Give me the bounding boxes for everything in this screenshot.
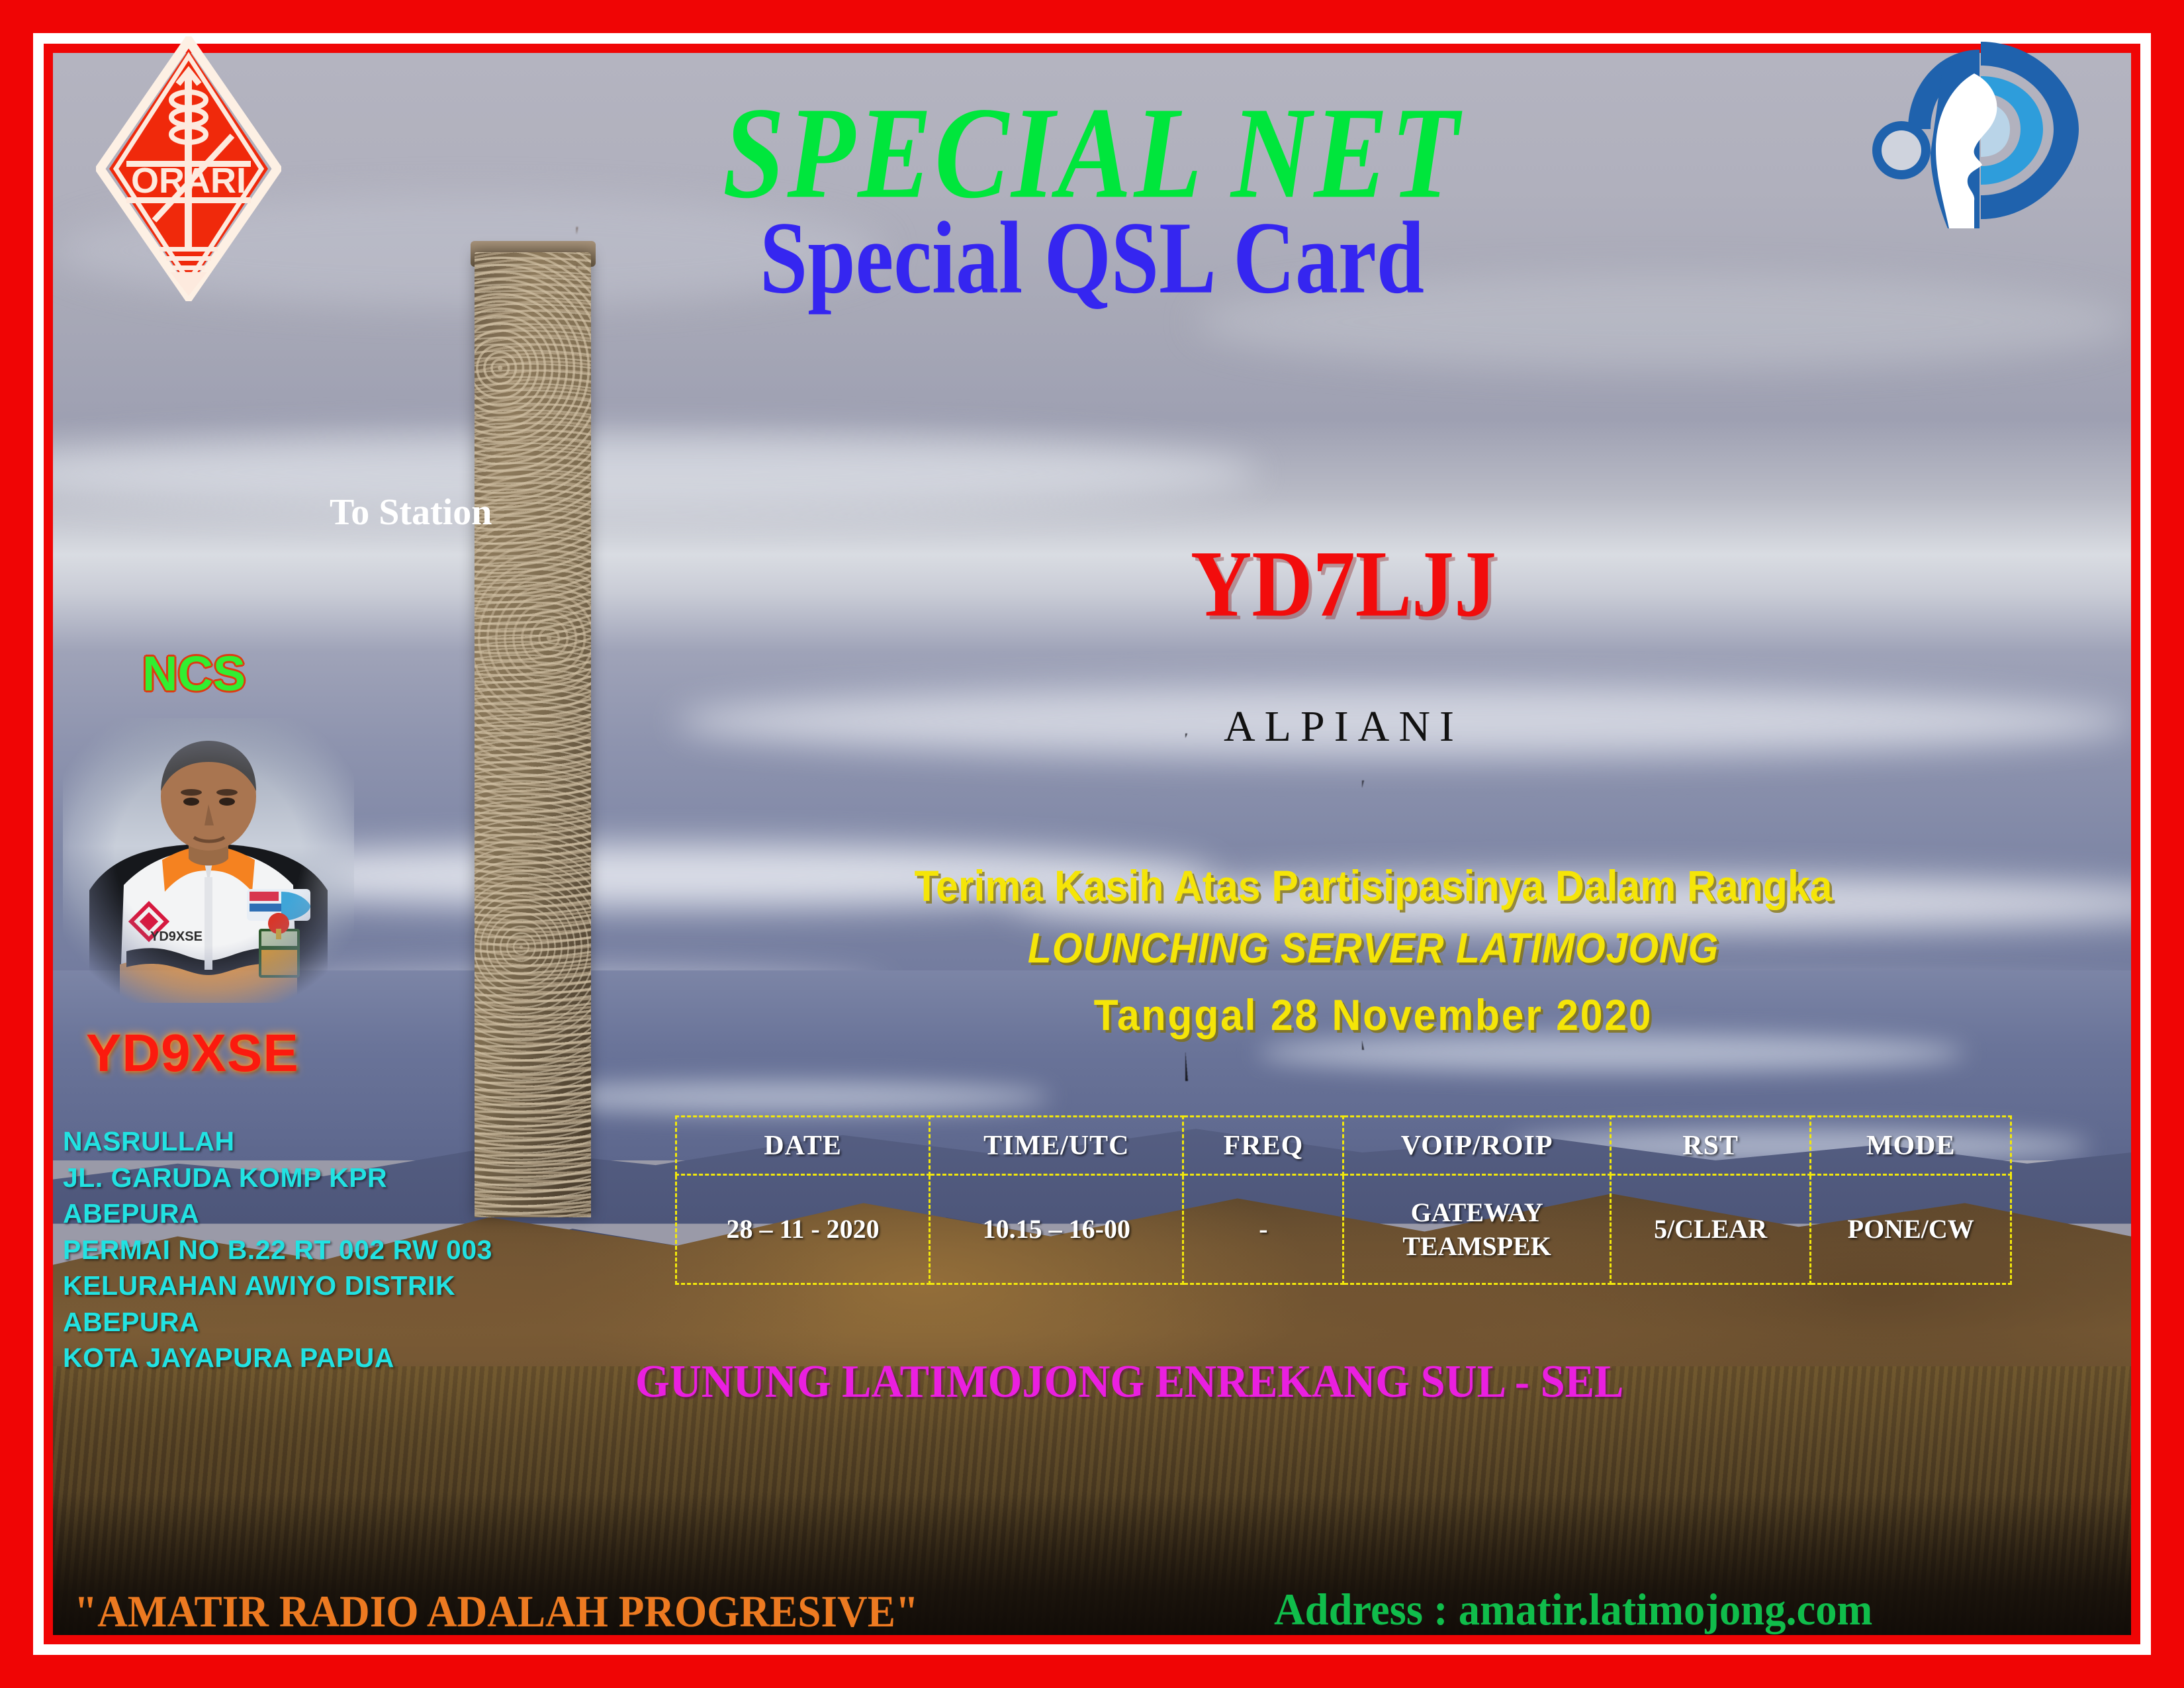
address-line: PERMAI NO B.22 RT 002 RW 003 — [63, 1232, 492, 1268]
event-date-line: Tanggal 28 November 2020 — [749, 990, 1997, 1040]
cell-mode: PONE/CW — [1811, 1175, 2011, 1284]
cell-rst: 5/CLEAR — [1610, 1175, 1811, 1284]
address-line: KELURAHAN AWIYO DISTRIK — [63, 1268, 492, 1304]
worked-station-callsign: YD7LJJ — [979, 530, 1707, 639]
club-motto: "AMATIR RADIO ADALAH PROGRESIVE" — [74, 1585, 919, 1638]
svg-text:YD9XSE: YD9XSE — [150, 929, 203, 944]
ncs-label: NCS — [142, 645, 246, 702]
column-header-date: DATE — [676, 1117, 930, 1175]
column-header-time: TIME/UTC — [930, 1117, 1183, 1175]
column-header-rst: RST — [1610, 1117, 1811, 1175]
to-station-label: To Station — [330, 491, 492, 534]
ncs-postal-address: NASRULLAH JL. GARUDA KOMP KPR ABEPURA PE… — [63, 1123, 492, 1376]
worked-station-operator-name: ALPIANI — [979, 702, 1707, 752]
address-line: NASRULLAH — [63, 1123, 492, 1160]
qsl-card: ORARI SPECIAL NET Special QSL Card To St… — [0, 0, 2184, 1688]
table-row: 28 – 11 - 2020 10.15 – 16-00 - GATEWAY T… — [676, 1175, 2011, 1284]
ncs-callsign: YD9XSE — [86, 1023, 299, 1084]
overlay-content: ORARI SPECIAL NET Special QSL Card To St… — [0, 0, 2184, 1688]
web-address: Address : amatir.latimojong.com — [1274, 1583, 1872, 1636]
table-header-row: DATE TIME/UTC FREQ VOIP/ROIP RST MODE — [676, 1117, 2011, 1175]
column-header-voip: VOIP/ROIP — [1343, 1117, 1610, 1175]
column-header-freq: FREQ — [1183, 1117, 1343, 1175]
ncs-operator-portrait: YD9XSE — [63, 718, 354, 1003]
address-line: KOTA JAYAPURA PAPUA — [63, 1340, 492, 1376]
event-title-line: LOUNCHING SERVER LATIMOJONG — [749, 923, 1997, 972]
address-line: ABEPURA — [63, 1304, 492, 1340]
cell-date: 28 – 11 - 2020 — [676, 1175, 930, 1284]
event-thanks-line: Terima Kasih Atas Partisipasinya Dalam R… — [749, 861, 1997, 911]
column-header-mode: MODE — [1811, 1117, 2011, 1175]
cell-voip: GATEWAY TEAMSPEK — [1343, 1175, 1610, 1284]
cell-freq: - — [1183, 1175, 1343, 1284]
page-subtitle-special-qsl-card: Special QSL Card — [0, 199, 2184, 318]
event-location-line: GUNUNG LATIMOJONG ENREKANG SUL - SEL — [635, 1356, 1830, 1409]
address-line: JL. GARUDA KOMP KPR — [63, 1160, 492, 1196]
cell-time: 10.15 – 16-00 — [930, 1175, 1183, 1284]
qso-details-table: DATE TIME/UTC FREQ VOIP/ROIP RST MODE 28… — [675, 1115, 2012, 1285]
address-line: ABEPURA — [63, 1196, 492, 1232]
